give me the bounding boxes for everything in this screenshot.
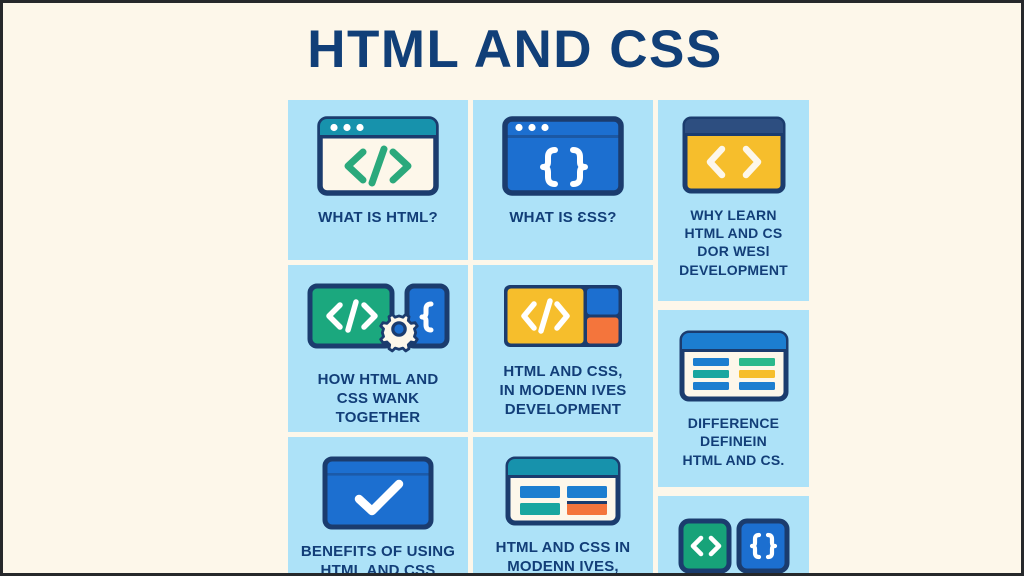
grid-row-3: BENEFITS OF USING HTML AND CSS [288,437,653,576]
window-with-bars-icon [505,456,621,526]
page-title: HTML AND CSS [3,19,1024,80]
yellow-panel-with-blocks-icon [501,282,625,350]
card-why-learn-html-and-css[interactable]: WHY LEARN HTML AND CS DOR WESl DEVELOPME… [658,100,809,301]
card-label: HTML AND CSS, IN MODENN IVES DEVELOPMENT [496,362,631,420]
card-how-html-and-css-work-together[interactable]: HOW HTML AND CSS WANK TOGETHER [288,265,468,432]
card-label: HOW HTML AND CSS WANK TOGETHER [314,370,443,428]
card-label: WHAT IS ƐSS? [505,208,620,227]
card-html-and-css-in-modern-development[interactable]: HTML AND CSS, IN MODENN IVES DEVELOPMENT [473,265,653,432]
card-html-and-css-in-modern-lives[interactable]: HTML AND CSS IN MODENN IVES, [473,437,653,576]
card-label: BENEFITS OF USING HTML AND CSS [297,542,459,576]
card-label: WHAT IS HTML? [314,208,442,227]
card-grid: WHAT IS HTML? [288,100,809,576]
card-label: HTML AND CSS IN MODENN IVES, [492,538,635,576]
grid-main-columns: WHAT IS HTML? [288,100,653,576]
grid-side-column: WHY LEARN HTML AND CS DOR WESl DEVELOPME… [658,100,809,576]
card-label: DIFFERENCE DEFINEIN HTML AND CS. [679,414,789,469]
grid-row-2: HOW HTML AND CSS WANK TOGETHER [288,265,653,432]
card-what-is-html[interactable]: WHAT IS HTML? [288,100,468,260]
card-difference-between-html-and-css[interactable]: DIFFERENCE DEFINEIN HTML AND CS. [658,310,809,487]
yellow-window-angle-brackets-icon [682,116,786,194]
blue-window-checkmark-icon [322,456,434,530]
infographic-canvas: HTML AND CSS [0,0,1024,576]
browser-window-braces-icon [502,116,624,196]
comparison-table-window-icon [679,330,789,402]
browser-window-code-icon [317,116,439,196]
panels-with-gear-icon [306,282,451,358]
card-code-tiles[interactable] [658,496,809,576]
code-tiles-icon [678,518,790,574]
card-label: WHY LEARN HTML AND CS DOR WESl DEVELOPME… [675,206,792,279]
grid-row-1: WHAT IS HTML? [288,100,653,260]
card-what-is-css[interactable]: WHAT IS ƐSS? [473,100,653,260]
card-benefits-of-using-html-and-css[interactable]: BENEFITS OF USING HTML AND CSS [288,437,468,576]
